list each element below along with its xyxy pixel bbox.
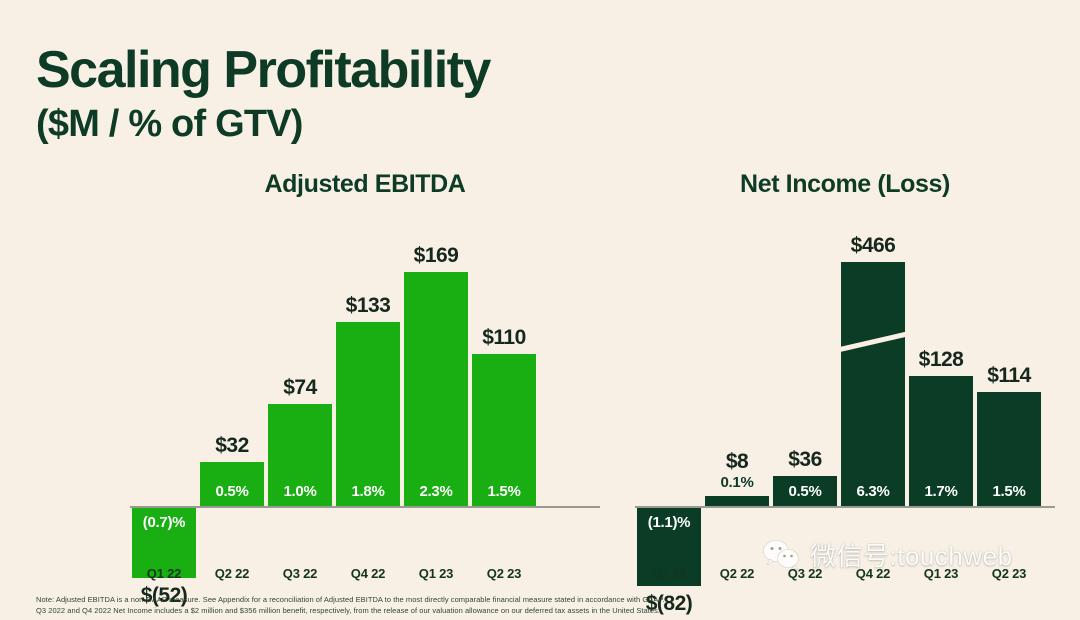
bar-value-label: $169 bbox=[386, 244, 486, 268]
bar-value-label: $110 bbox=[454, 326, 554, 350]
bar-pct-label: 0.5% bbox=[773, 483, 837, 500]
x-tick-label: Q1 22 bbox=[132, 566, 196, 581]
bar-pct-label: (1.1)% bbox=[637, 514, 701, 531]
page-subtitle: ($M / % of GTV) bbox=[36, 104, 303, 146]
x-tick-label: Q2 23 bbox=[977, 566, 1041, 581]
bar-netincome-q2-23[interactable]: 1.5% bbox=[977, 392, 1041, 506]
chart-panel-net-income: Net Income (Loss) (1.1)% $(82) 0.1% $8 0… bbox=[635, 170, 1055, 590]
x-tick-label: Q1 23 bbox=[909, 566, 973, 581]
x-tick-label: Q4 22 bbox=[841, 566, 905, 581]
x-tick-label: Q2 22 bbox=[705, 566, 769, 581]
bar-group-ebitda-q1-22[interactable]: (0.7)% $(52) bbox=[132, 206, 196, 556]
bar-value-label: $74 bbox=[250, 376, 350, 400]
bar-pct-label: 0.1% bbox=[705, 474, 769, 500]
bar-group-ebitda-q1-23[interactable]: 2.3% $169 bbox=[404, 206, 468, 556]
bar-pct-label: 1.5% bbox=[472, 483, 536, 500]
chart-panel-adjusted-ebitda: Adjusted EBITDA (0.7)% $(52) 0.5% $32 1.… bbox=[130, 170, 600, 590]
bar-value-label: $114 bbox=[959, 364, 1059, 388]
bar-group-ebitda-q2-23[interactable]: 1.5% $110 bbox=[472, 206, 536, 556]
bar-pct-label: 1.8% bbox=[336, 483, 400, 500]
x-tick-label: Q3 22 bbox=[773, 566, 837, 581]
bar-ebitda-q3-22[interactable]: 1.0% bbox=[268, 404, 332, 506]
bar-netincome-q4-22[interactable]: 6.3% bbox=[841, 262, 905, 506]
plot-area-net-income: (1.1)% $(82) 0.1% $8 0.5% $36 6.3% $466 bbox=[635, 206, 1055, 556]
bar-ebitda-q1-23[interactable]: 2.3% bbox=[404, 272, 468, 506]
bar-value-label: $36 bbox=[755, 448, 855, 472]
bar-pct-label: 0.5% bbox=[200, 483, 264, 500]
footnote-line: Note: Adjusted EBITDA is a non-GAAP meas… bbox=[36, 594, 796, 605]
page-title: Scaling Profitability bbox=[36, 44, 490, 96]
x-axis-labels-net-income: Q1 22 Q2 22 Q3 22 Q4 22 Q1 23 Q2 23 bbox=[635, 566, 1055, 586]
bar-ebitda-q2-23[interactable]: 1.5% bbox=[472, 354, 536, 506]
bar-group-netincome-q4-22[interactable]: 6.3% $466 bbox=[841, 206, 905, 556]
bar-pct-label: 1.0% bbox=[268, 483, 332, 500]
x-tick-label: Q2 23 bbox=[472, 566, 536, 581]
bar-pct-label: (0.7)% bbox=[132, 514, 196, 531]
bar-ebitda-q4-22[interactable]: 1.8% bbox=[336, 322, 400, 506]
bar-ebitda-q2-22[interactable]: 0.5% bbox=[200, 462, 264, 506]
bar-netincome-q2-22[interactable]: 0.1% bbox=[705, 496, 769, 506]
bar-group-netincome-q2-23[interactable]: 1.5% $114 bbox=[977, 206, 1041, 556]
x-tick-label: Q2 22 bbox=[200, 566, 264, 581]
bar-pct-label: 1.5% bbox=[977, 483, 1041, 500]
bar-netincome-q3-22[interactable]: 0.5% bbox=[773, 476, 837, 506]
x-tick-label: Q1 23 bbox=[404, 566, 468, 581]
bar-value-label: $466 bbox=[823, 234, 923, 258]
x-axis-labels-adjusted-ebitda: Q1 22 Q2 22 Q3 22 Q4 22 Q1 23 Q2 23 bbox=[130, 566, 600, 586]
footnotes: Note: Adjusted EBITDA is a non-GAAP meas… bbox=[36, 594, 796, 616]
chart-title-adjusted-ebitda: Adjusted EBITDA bbox=[130, 170, 600, 199]
bar-pct-label: 2.3% bbox=[404, 483, 468, 500]
chart-title-net-income: Net Income (Loss) bbox=[635, 170, 1055, 199]
bar-pct-label: 6.3% bbox=[841, 483, 905, 500]
bar-value-label: $32 bbox=[182, 434, 282, 458]
bar-pct-label: 1.7% bbox=[909, 483, 973, 500]
bar-group-netincome-q3-22[interactable]: 0.5% $36 bbox=[773, 206, 837, 556]
bar-netincome-q1-23[interactable]: 1.7% bbox=[909, 376, 973, 506]
plot-area-adjusted-ebitda: (0.7)% $(52) 0.5% $32 1.0% $74 1.8% $133 bbox=[130, 206, 600, 556]
bar-group-ebitda-q3-22[interactable]: 1.0% $74 bbox=[268, 206, 332, 556]
bar-group-netincome-q1-22[interactable]: (1.1)% $(82) bbox=[637, 206, 701, 556]
footnote-line: Q3 2022 and Q4 2022 Net Income includes … bbox=[36, 605, 796, 616]
bar-value-label: $133 bbox=[318, 294, 418, 318]
x-tick-label: Q1 22 bbox=[637, 566, 701, 581]
x-tick-label: Q3 22 bbox=[268, 566, 332, 581]
bar-group-netincome-q2-22[interactable]: 0.1% $8 bbox=[705, 206, 769, 556]
x-tick-label: Q4 22 bbox=[336, 566, 400, 581]
